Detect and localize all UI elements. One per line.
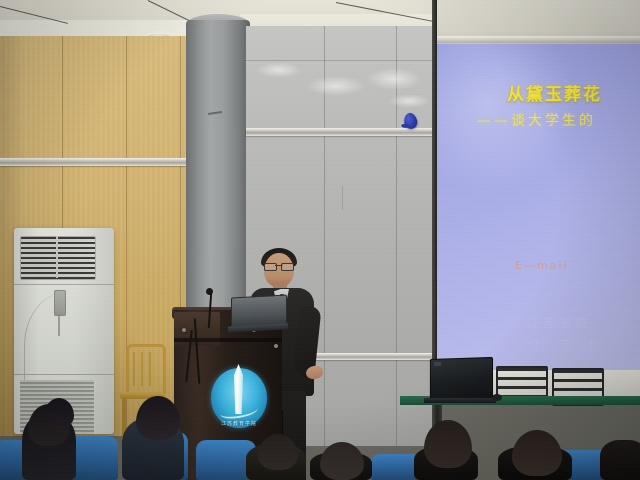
emblem-label: 江苏教育学院: [208, 420, 270, 427]
wall-smudge: [388, 94, 430, 108]
table-mouse: [492, 394, 502, 401]
projection-screen: 从黛玉葬花 ——谈大学生的 E—mail 江苏省教 江 苏 教: [437, 44, 640, 398]
chair-back: [126, 344, 166, 396]
laptop-logo-icon: [434, 362, 441, 366]
podium-bolt: [182, 328, 186, 332]
wall-scuff: [342, 186, 343, 210]
glasses-icon: [264, 263, 294, 269]
wall-metal-strip-left: [0, 158, 190, 166]
wall-smudge: [366, 68, 422, 90]
chair-slat: [133, 352, 135, 386]
slide-org-line-1: 江苏省教: [527, 314, 591, 331]
slide-subtitle: ——谈大学生的: [477, 110, 596, 130]
air-conditioner-top-grille: [20, 236, 96, 280]
air-conditioner-grille-divider: [56, 236, 58, 278]
audience-head: [258, 434, 298, 470]
wall-metal-strip-lower: [312, 353, 436, 360]
chair-slat: [149, 352, 151, 386]
wall-smudge: [256, 62, 302, 78]
air-conditioner-seam: [14, 284, 114, 285]
chair-slat: [141, 352, 143, 386]
podium-bolt: [274, 344, 278, 348]
slide-org-line-2: 江 苏 教: [529, 336, 608, 353]
podium-emblem: 江苏教育学院: [208, 364, 270, 434]
screen-mount-rail: [437, 36, 640, 43]
air-conditioner-display-stem: [58, 314, 60, 336]
audience-head: [44, 398, 74, 428]
table-laptop-base: [424, 398, 496, 403]
wall-smudge: [306, 76, 366, 96]
photograph-scene: 从黛玉葬花 ——谈大学生的 E—mail 江苏省教 江 苏 教: [0, 0, 640, 480]
panel-seam-horizontal: [246, 60, 436, 61]
audience-head: [136, 396, 180, 440]
audience-head: [512, 430, 562, 476]
audience-head: [320, 442, 364, 480]
air-conditioner-display: [54, 290, 66, 316]
wall-metal-strip-center: [246, 128, 436, 136]
slide-email: E—mail: [515, 259, 569, 272]
audience-member: [600, 440, 640, 480]
slide-title: 从黛玉葬花: [507, 80, 602, 105]
